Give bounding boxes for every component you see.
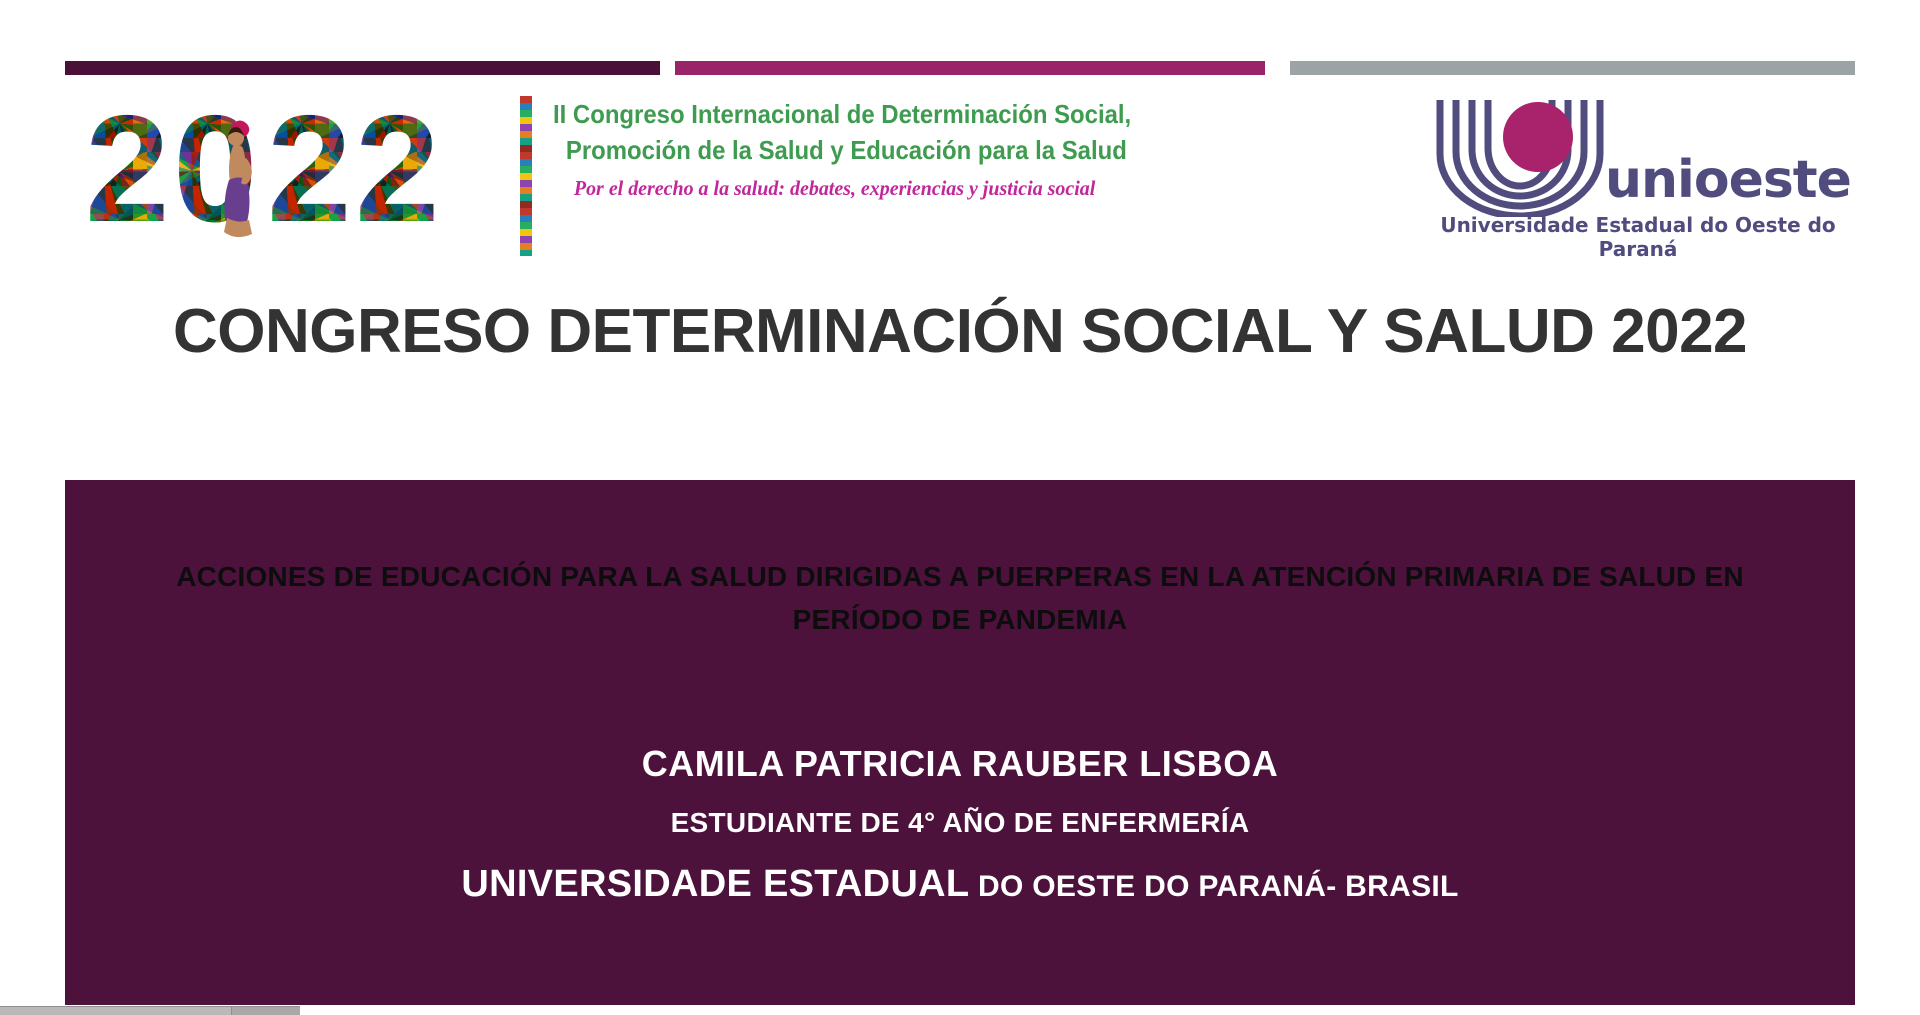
scrollbar-thumb[interactable] [0,1007,232,1015]
author-university: UNIVERSIDADE ESTADUAL DO OESTE DO PARANÁ… [125,853,1795,923]
author-name: CAMILA PATRICIA RAUBER LISBOA [125,735,1795,793]
author-role: ESTUDIANTE DE 4° AÑO DE ENFERMERÍA [125,793,1795,853]
congress-title-line-2: Promoción de la Salud y Educación para l… [553,132,1013,168]
presentation-subject-heading: ACCIONES DE EDUCACIÓN PARA LA SALUD DIRI… [145,555,1775,641]
top-bar-dark-purple [65,61,660,75]
top-bar-gray [1290,61,1855,75]
author-university-primary: UNIVERSIDADE ESTADUAL [461,863,969,905]
top-bar-magenta [675,61,1265,75]
logo-digit-1: 2 [85,90,177,250]
logo-digit-3: 2 [267,90,359,250]
unioeste-subtitle: Universidade Estadual do Oeste do Paraná [1421,213,1855,261]
page-title: CONGRESO DETERMINACIÓN SOCIAL Y SALUD 20… [120,288,1800,376]
unioeste-wordmark: unioeste [1605,150,1851,210]
author-block: CAMILA PATRICIA RAUBER LISBOA ESTUDIANTE… [125,735,1795,923]
author-university-secondary: DO OESTE DO PARANÁ- BRASIL [969,870,1458,903]
logo-digit-4: 2 [355,90,447,250]
congress-title-line-1: II Congreso Internacional de Determinaci… [553,96,1013,132]
congress-tagline: Por el derecho a la salud: debates, expe… [553,168,1028,208]
seated-woman-figure-icon [213,114,259,246]
unioeste-arcs-icon [1430,92,1610,217]
content-panel: ACCIONES DE EDUCACIÓN PARA LA SALUD DIRI… [65,480,1855,1005]
slide-header: 2 0 2 2 II Congreso Internacional de Det… [65,82,1855,262]
unioeste-logo: unioeste Universidade Estadual do Oeste … [1415,88,1855,253]
congress-title-block: II Congreso Internacional de Determinaci… [553,96,1053,208]
mosaic-divider [520,96,532,256]
congress-year-logo: 2 0 2 2 [85,90,455,255]
presentation-slide: 2 0 2 2 II Congreso Internacional de Det… [0,0,1920,1015]
horizontal-scrollbar[interactable] [0,1006,300,1015]
